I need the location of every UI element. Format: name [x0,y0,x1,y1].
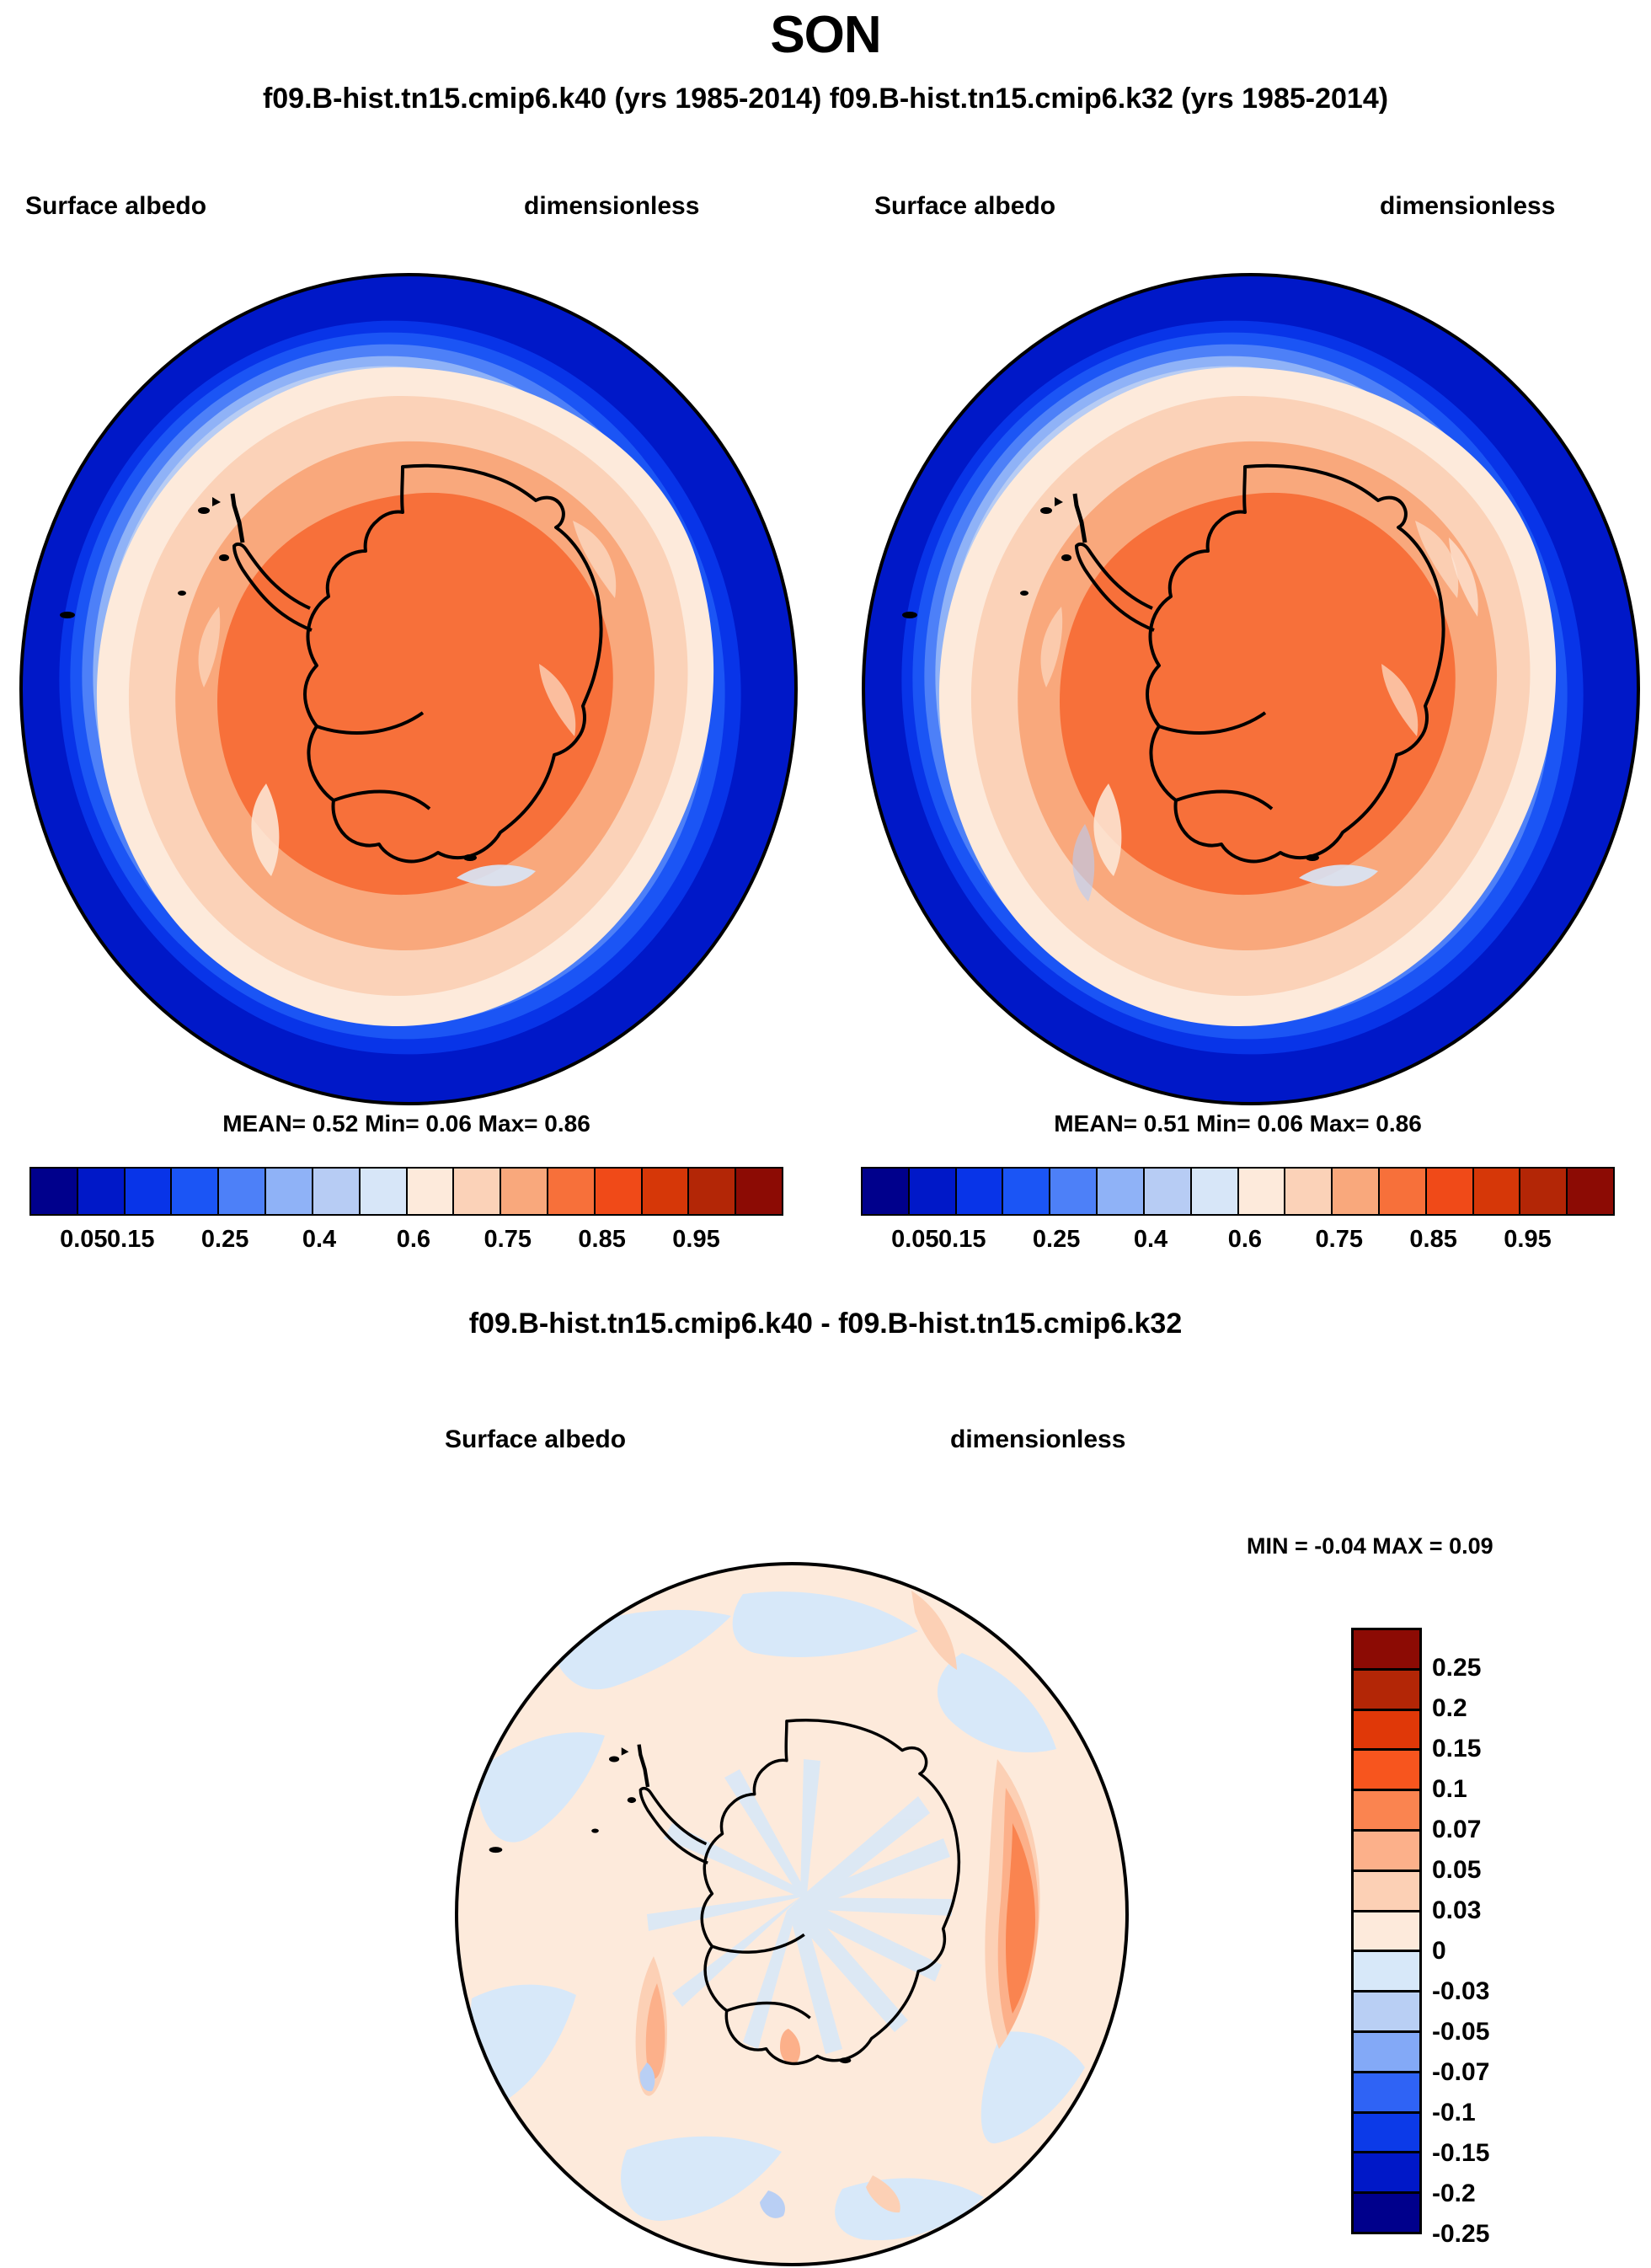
diff-colorbar-tick-label: -0.03 [1432,1977,1489,2006]
colorbar-cell [31,1169,78,1214]
colorbar-cell [172,1169,219,1214]
diff-colorbar-cell [1354,2153,1419,2194]
diff-colorbar-tick-label: -0.25 [1432,2220,1489,2249]
map-panel-k32[interactable] [859,268,1643,1110]
diff-colorbar-cell [1354,2194,1419,2232]
colorbar-cell [361,1169,408,1214]
diff-colorbar-tick-label: 0.05 [1432,1856,1481,1885]
colorbar-cell [1098,1169,1145,1214]
colorbar-tick-label: 0.4 [1134,1226,1167,1254]
diff-colorbar-cell [1354,2033,1419,2073]
left-colorbar-labels: 0.050.150.250.40.60.750.850.95 [29,1226,783,1260]
right-panel-stats: MEAN= 0.51 Min= 0.06 Max= 0.86 [861,1110,1615,1137]
diff-colorbar-tick-label: 0.03 [1432,1896,1481,1925]
diff-colorbar-tick-label: -0.1 [1432,2099,1476,2127]
left-panel-variable-label: Surface albedo [25,192,206,221]
colorbar-cell [1192,1169,1239,1214]
diff-colorbar-cell [1354,1751,1419,1791]
diff-colorbar[interactable] [1351,1628,1422,2234]
left-panel-stats: MEAN= 0.52 Min= 0.06 Max= 0.86 [29,1110,783,1137]
diff-minmax-text: MIN = -0.04 MAX = 0.09 [1247,1533,1493,1559]
diff-colorbar-tick-label: 0.07 [1432,1816,1481,1844]
diff-colorbar-tick-label: 0.1 [1432,1775,1467,1804]
colorbar-cell [126,1169,173,1214]
colorbar-cell [736,1169,782,1214]
colorbar-cell [1333,1169,1380,1214]
colorbar-cell [501,1169,548,1214]
colorbar-cell [78,1169,126,1214]
colorbar-cell [1003,1169,1050,1214]
diff-colorbar-cell [1354,2073,1419,2114]
page-title: SON [0,5,1651,65]
right-panel-units-label: dimensionless [1380,192,1555,221]
colorbar-tick-label: 0.15 [107,1226,154,1254]
diff-colorbar-cell [1354,1630,1419,1671]
colorbar-tick-label: 0.15 [938,1226,986,1254]
colorbar-tick-label: 0.05 [60,1226,107,1254]
diff-colorbar-tick-label: 0.25 [1432,1654,1481,1682]
colorbar-cell [1474,1169,1521,1214]
diff-colorbar-cell [1354,1872,1419,1912]
colorbar-cell [548,1169,596,1214]
colorbar-tick-label: 0.25 [201,1226,248,1254]
map-svg-difference [446,1560,1137,2268]
colorbar-cell [454,1169,501,1214]
diff-contour-field [457,1564,1127,2265]
colorbar-tick-label: 0.75 [1316,1226,1363,1254]
colorbar-cell [1380,1169,1427,1214]
map-svg-k32 [859,268,1643,1110]
colorbar-tick-label: 0.25 [1033,1226,1080,1254]
colorbar-cell [1520,1169,1568,1214]
figure-root: SON f09.B-hist.tn15.cmip6.k40 (yrs 1985-… [0,0,1651,2268]
colorbar-cell [219,1169,266,1214]
colorbar-tick-label: 0.95 [1504,1226,1551,1254]
colorbar-cell [1239,1169,1286,1214]
colorbar-tick-label: 0.75 [484,1226,532,1254]
diff-colorbar-tick-label: -0.2 [1432,2180,1476,2208]
diff-panel-units-label: dimensionless [950,1426,1125,1454]
diff-panel-variable-label: Surface albedo [445,1426,626,1454]
colorbar-tick-label: 0.85 [1409,1226,1456,1254]
diff-colorbar-cell [1354,1993,1419,2033]
diff-panel-title: f09.B-hist.tn15.cmip6.k40 - f09.B-hist.t… [0,1308,1651,1340]
colorbar-tick-label: 0.05 [891,1226,938,1254]
diff-colorbar-tick-label: 0.15 [1432,1735,1481,1763]
diff-colorbar-cell [1354,1832,1419,1872]
colorbar-tick-label: 0.95 [672,1226,719,1254]
colorbar-cell [957,1169,1004,1214]
right-colorbar[interactable] [861,1167,1615,1216]
colorbar-cell [313,1169,361,1214]
diff-colorbar-labels: 0.250.20.150.10.070.050.030-0.03-0.05-0.… [1432,1628,1634,2234]
colorbar-cell [408,1169,455,1214]
colorbar-tick-label: 0.4 [302,1226,336,1254]
map-panel-k40[interactable] [17,268,800,1110]
diff-colorbar-cell [1354,1912,1419,1953]
case-name-line: f09.B-hist.tn15.cmip6.k40 (yrs 1985-2014… [0,83,1651,115]
colorbar-cell [643,1169,690,1214]
colorbar-cell [1427,1169,1474,1214]
colorbar-tick-label: 0.6 [1228,1226,1262,1254]
diff-colorbar-tick-label: 0.2 [1432,1694,1467,1723]
left-colorbar[interactable] [29,1167,783,1216]
colorbar-cell [596,1169,643,1214]
diff-colorbar-cell [1354,2114,1419,2154]
colorbar-cell [1285,1169,1333,1214]
colorbar-cell [1568,1169,1613,1214]
map-svg-k40 [17,268,800,1110]
colorbar-cell [1050,1169,1098,1214]
diff-colorbar-cell [1354,1671,1419,1711]
diff-colorbar-cell [1354,1711,1419,1752]
colorbar-cell [689,1169,736,1214]
colorbar-cell [863,1169,910,1214]
diff-colorbar-cell [1354,1952,1419,1993]
colorbar-cell [266,1169,313,1214]
right-colorbar-labels: 0.050.150.250.40.60.750.850.95 [861,1226,1615,1260]
left-panel-units-label: dimensionless [524,192,699,221]
diff-colorbar-tick-label: 0 [1432,1937,1446,1966]
diff-colorbar-tick-label: -0.05 [1432,2018,1489,2046]
colorbar-tick-label: 0.6 [397,1226,430,1254]
diff-colorbar-tick-label: -0.15 [1432,2139,1489,2168]
right-panel-variable-label: Surface albedo [874,192,1055,221]
colorbar-tick-label: 0.85 [578,1226,625,1254]
diff-colorbar-cell [1354,1791,1419,1832]
diff-colorbar-tick-label: -0.07 [1432,2058,1489,2087]
map-panel-difference[interactable] [446,1560,1137,2268]
colorbar-cell [910,1169,957,1214]
colorbar-cell [1145,1169,1192,1214]
